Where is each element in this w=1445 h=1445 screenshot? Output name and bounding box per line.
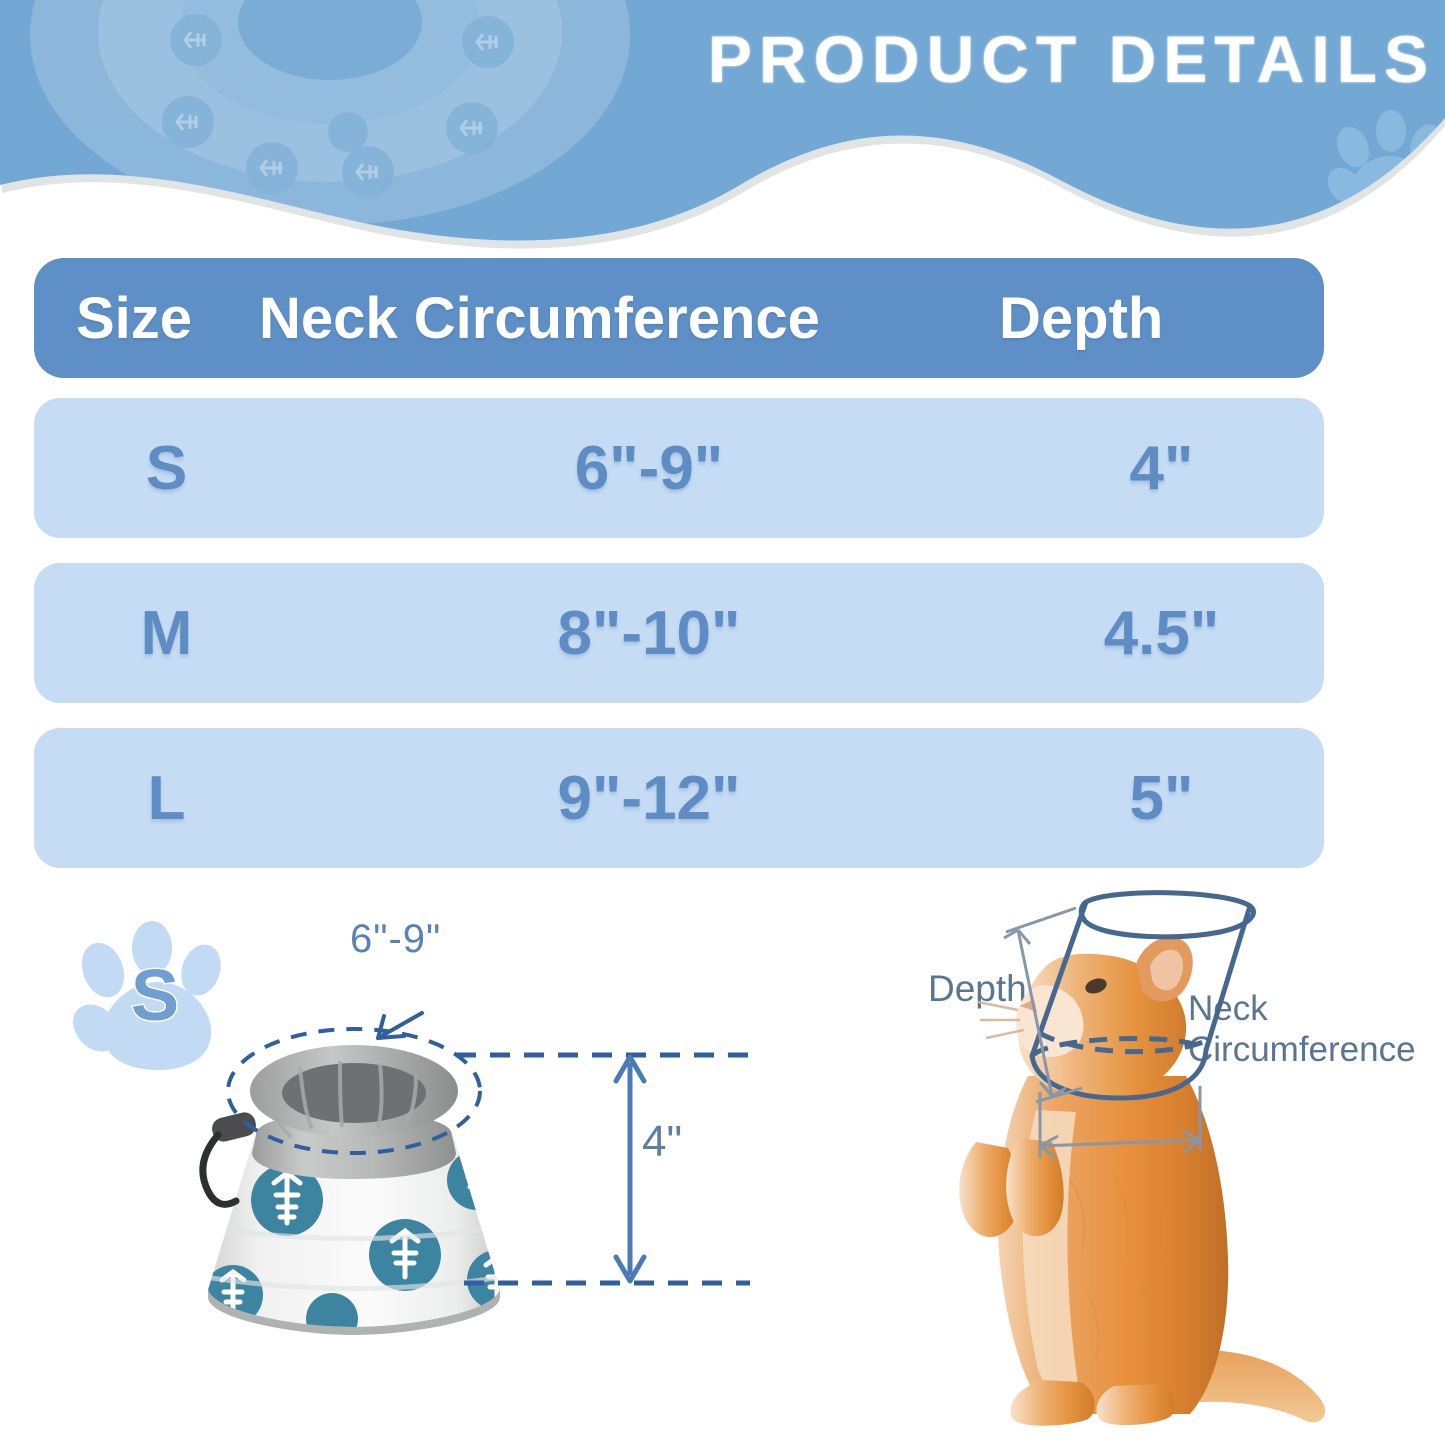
column-header-neck: Neck Circumference	[259, 285, 999, 352]
table-row: M 8"-10" 4.5"	[34, 563, 1324, 703]
cell-depth: 5"	[999, 763, 1324, 834]
cat-hind-foot-right	[1096, 1384, 1175, 1425]
cell-neck: 6"-9"	[299, 433, 999, 504]
cell-depth: 4.5"	[999, 598, 1324, 669]
cell-neck: 9"-12"	[299, 763, 999, 834]
table-row: S 6"-9" 4"	[34, 398, 1324, 538]
cat-wearing-cone-icon	[900, 880, 1445, 1440]
column-header-depth: Depth	[999, 285, 1324, 352]
product-details-infographic: PRODUCT DETAILS Size Neck Circumference …	[0, 0, 1445, 1445]
cat-tail	[1200, 1350, 1325, 1422]
cone-top-rim	[1081, 893, 1253, 937]
cone-dimension-diagram: S 6"-9" 4"	[60, 895, 760, 1365]
cell-size: L	[34, 763, 299, 834]
column-header-size: Size	[34, 285, 259, 352]
cell-size: S	[34, 433, 299, 504]
depth-dimension-annotation	[456, 1055, 750, 1283]
cat-hind-foot-left	[1010, 1380, 1094, 1426]
recovery-cone-icon	[60, 895, 760, 1365]
cat-whiskers	[978, 1002, 1024, 1038]
cat-front-paw-right	[1006, 1138, 1064, 1236]
size-chart-table: Size Neck Circumference Depth S 6"-9" 4"…	[34, 258, 1324, 868]
table-row: L 9"-12" 5"	[34, 728, 1324, 868]
cell-neck: 8"-10"	[299, 598, 999, 669]
cat-measurement-diagram: Depth Neck Circumference	[900, 880, 1445, 1440]
header-banner: PRODUCT DETAILS	[0, 0, 1445, 250]
cell-size: M	[34, 598, 299, 669]
cell-depth: 4"	[999, 433, 1324, 504]
neck-dimension-arrow	[378, 1013, 422, 1038]
page-title: PRODUCT DETAILS	[575, 14, 1435, 104]
table-header-row: Size Neck Circumference Depth	[34, 258, 1324, 378]
